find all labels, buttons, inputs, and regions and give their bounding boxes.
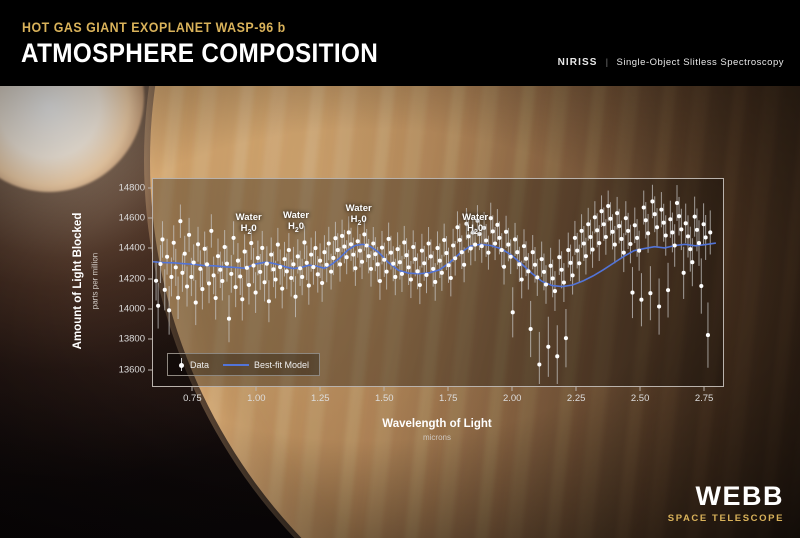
y-tick-label: 14000 [119, 304, 145, 315]
transmission-spectrum-chart: 13600138001400014200144001460014800 0.75… [152, 178, 724, 387]
data-point-icon [178, 358, 185, 371]
x-tick-mark [384, 386, 385, 391]
webb-wordmark: WEBB [668, 483, 784, 510]
y-tick-label: 14400 [119, 243, 145, 254]
water-annotation-formula: H20 [346, 214, 372, 229]
water-annotation-formula: H20 [462, 223, 488, 238]
water-annotation-name: Water [462, 212, 488, 223]
x-tick-mark [192, 386, 193, 391]
x-tick-mark [512, 386, 513, 391]
y-tick-label: 13600 [119, 364, 145, 375]
webb-logo: WEBB SPACE TELESCOPE [668, 483, 784, 524]
legend-item-data: Data [178, 358, 209, 371]
x-tick-mark [704, 386, 705, 391]
y-tick-label: 14600 [119, 212, 145, 223]
y-axis-title: Amount of Light Blocked [72, 213, 84, 350]
water-annotation: WaterH20 [236, 212, 262, 238]
header-bar: HOT GAS GIANT EXOPLANET WASP-96 b ATMOSP… [0, 0, 800, 86]
x-axis-title: Wavelength of Light [382, 418, 491, 430]
y-tick-mark [148, 278, 153, 279]
chart-legend: Data Best-fit Model [167, 353, 320, 376]
x-tick-mark [448, 386, 449, 391]
infographic-root: HOT GAS GIANT EXOPLANET WASP-96 b ATMOSP… [0, 0, 800, 538]
water-annotation-formula: H20 [236, 223, 262, 238]
x-tick-label: 2.00 [503, 393, 522, 404]
x-tick-label: 2.50 [631, 393, 650, 404]
best-fit-model-line [153, 243, 716, 286]
y-tick-label: 13800 [119, 334, 145, 345]
y-tick-mark [148, 248, 153, 249]
x-tick-label: 2.25 [567, 393, 586, 404]
x-tick-label: 1.75 [439, 393, 458, 404]
water-annotation: WaterH20 [462, 212, 488, 238]
caption-divider: | [606, 57, 609, 68]
water-annotation: WaterH20 [283, 210, 309, 236]
y-tick-mark [148, 309, 153, 310]
x-tick-mark [256, 386, 257, 391]
x-tick-mark [640, 386, 641, 391]
x-tick-mark [320, 386, 321, 391]
x-tick-label: 0.75 [183, 393, 202, 404]
y-axis-unit: parts per million [91, 253, 100, 309]
y-tick-mark [148, 187, 153, 188]
instrument-caption: NIRISS | Single-Object Slitless Spectros… [558, 57, 784, 68]
legend-label-model: Best-fit Model [254, 360, 309, 370]
water-annotation-name: Water [283, 210, 309, 221]
webb-subtitle: SPACE TELESCOPE [668, 513, 784, 524]
page-title: ATMOSPHERE COMPOSITION [21, 38, 378, 69]
legend-item-model: Best-fit Model [223, 360, 309, 370]
water-annotation-formula: H20 [283, 221, 309, 236]
y-tick-label: 14200 [119, 273, 145, 284]
model-line-icon [223, 364, 249, 366]
x-tick-label: 1.00 [247, 393, 266, 404]
legend-label-data: Data [190, 360, 209, 370]
subject-eyebrow: HOT GAS GIANT EXOPLANET WASP-96 b [22, 20, 286, 35]
water-annotation-name: Water [346, 203, 372, 214]
y-tick-label: 14800 [119, 182, 145, 193]
x-tick-label: 2.75 [695, 393, 714, 404]
x-tick-label: 1.50 [375, 393, 394, 404]
observing-mode: Single-Object Slitless Spectroscopy [617, 57, 784, 68]
instrument-name: NIRISS [558, 57, 598, 68]
water-annotation: WaterH20 [346, 203, 372, 229]
y-tick-mark [148, 369, 153, 370]
x-tick-mark [576, 386, 577, 391]
x-axis-unit: microns [423, 433, 451, 442]
y-tick-mark [148, 339, 153, 340]
water-annotation-name: Water [236, 212, 262, 223]
x-tick-label: 1.25 [311, 393, 330, 404]
y-tick-mark [148, 217, 153, 218]
